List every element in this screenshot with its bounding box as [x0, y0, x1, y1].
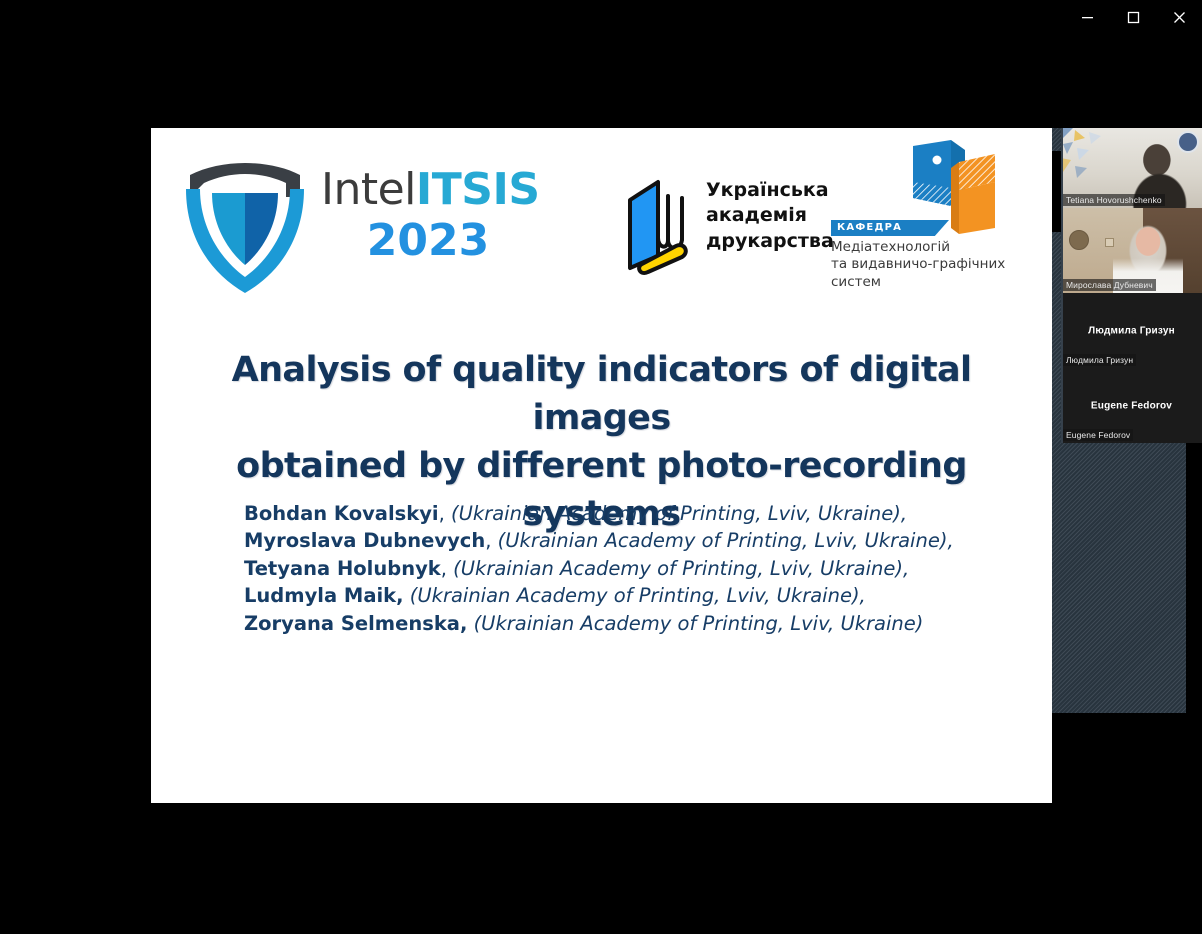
wall-decor-icon: [1069, 230, 1089, 250]
wordmark-itsis: ITSIS: [416, 164, 540, 215]
author-separator: ,: [439, 502, 451, 525]
university-line-3: друкарства: [706, 229, 834, 254]
department-line-2: та видавничо-графічних: [831, 256, 1031, 273]
department-logo: КАФЕДРА Медіатехнологій та видавничо-гра…: [831, 136, 1031, 286]
minimize-icon: [1081, 11, 1094, 24]
department-line-3: систем: [831, 274, 1031, 291]
maximize-button[interactable]: [1110, 0, 1156, 34]
department-line-1: Медіатехнологій: [831, 239, 1031, 256]
author-name: Zoryana Selmenska,: [244, 612, 467, 635]
participant-name-label: Людмила Гризун: [1063, 354, 1136, 366]
author-separator: ,: [485, 529, 497, 552]
participant-name-label: Eugene Fedorov: [1063, 429, 1133, 441]
author-row: Tetyana Holubnyk, (Ukrainian Academy of …: [244, 555, 1004, 582]
participant-tile[interactable]: Tetiana Hovorushchenko: [1061, 128, 1202, 208]
app-window: IntelITSIS 2023 Українська академія друк…: [0, 0, 1202, 934]
slide-title-line-1: Analysis of quality indicators of digita…: [191, 347, 1012, 443]
uap-book-icon: [624, 176, 696, 276]
university-line-2: академія: [706, 203, 834, 228]
department-logo-text: Медіатехнологій та видавничо-графічних с…: [831, 239, 1031, 291]
close-icon: [1173, 11, 1186, 24]
author-row: Ludmyla Maik, (Ukrainian Academy of Prin…: [244, 582, 1004, 609]
participant-tile[interactable]: Мирослава Дубневич: [1061, 208, 1202, 293]
author-row: Myroslava Dubnevych, (Ukrainian Academy …: [244, 527, 1004, 554]
author-name: Myroslava Dubnevych: [244, 529, 485, 552]
participant-tile[interactable]: Людмила Гризун Людмила Гризун: [1061, 293, 1202, 368]
slide-logo-row: IntelITSIS 2023 Українська академія друк…: [151, 128, 1052, 303]
author-affiliation: (Ukrainian Academy of Printing, Lviv, Uk…: [498, 529, 954, 552]
author-affiliation: (Ukrainian Academy of Printing, Lviv, Uk…: [453, 557, 909, 580]
intelitsis-wordmark: IntelITSIS 2023: [321, 168, 551, 266]
organization-badge-icon: [1177, 131, 1199, 153]
author-affiliation: (Ukrainian Academy of Printing, Lviv, Uk…: [410, 584, 866, 607]
close-button[interactable]: [1156, 0, 1202, 34]
participant-tile[interactable]: Eugene Fedorov Eugene Fedorov: [1061, 368, 1202, 443]
author-affiliation: (Ukrainian Academy of Printing, Lviv, Uk…: [474, 612, 924, 635]
author-row: Zoryana Selmenska, (Ukrainian Academy of…: [244, 610, 1004, 637]
participants-strip-edge: [1061, 128, 1063, 443]
author-affiliation: (Ukrainian Academy of Printing, Lviv, Uk…: [451, 502, 907, 525]
author-name: Ludmyla Maik,: [244, 584, 404, 607]
author-name: Bohdan Kovalskyi: [244, 502, 439, 525]
university-line-1: Українська: [706, 178, 834, 203]
participant-center-name: Eugene Fedorov: [1061, 400, 1202, 411]
university-logo-text: Українська академія друкарства: [706, 178, 834, 254]
participants-strip[interactable]: Tetiana Hovorushchenko Мирослава Дубневи…: [1061, 128, 1202, 443]
wordmark-year: 2023: [321, 215, 551, 266]
participant-name-label: Мирослава Дубневич: [1063, 279, 1156, 291]
maximize-icon: [1127, 11, 1140, 24]
author-row: Bohdan Kovalskyi, (Ukrainian Academy of …: [244, 500, 1004, 527]
participant-name-label: Tetiana Hovorushchenko: [1063, 194, 1165, 206]
wordmark-intel: Intel: [321, 164, 416, 215]
author-list: Bohdan Kovalskyi, (Ukrainian Academy of …: [244, 500, 1004, 637]
participant-center-name: Людмила Гризун: [1061, 325, 1202, 336]
department-banner: КАФЕДРА: [831, 220, 949, 236]
presentation-slide[interactable]: IntelITSIS 2023 Українська академія друк…: [151, 128, 1052, 803]
intelitsis-shield-icon: [176, 153, 314, 295]
window-controls: [1064, 0, 1202, 34]
minimize-button[interactable]: [1064, 0, 1110, 34]
author-name: Tetyana Holubnyk: [244, 557, 441, 580]
decor-triangles-icon: [1061, 128, 1103, 184]
author-separator: ,: [441, 557, 453, 580]
